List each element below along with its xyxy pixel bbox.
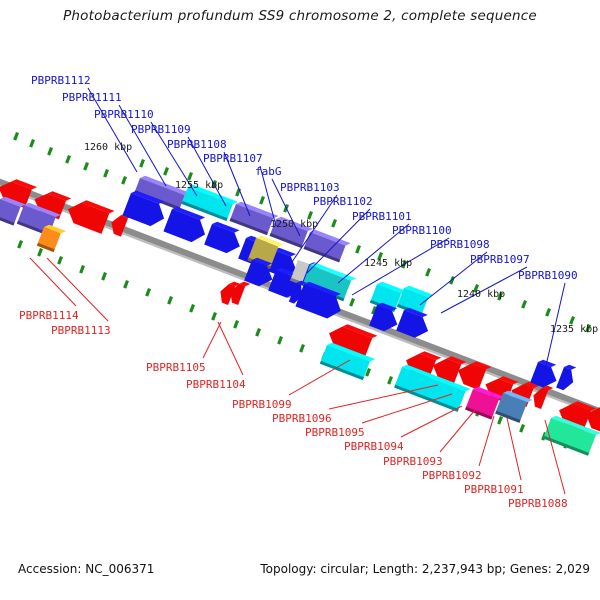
minor-feature-tick <box>497 416 503 425</box>
minor-feature-tick <box>355 245 361 254</box>
genome-map-viewer: Photobacterium profundum SS9 chromosome … <box>0 0 600 600</box>
minor-feature-tick <box>277 336 283 345</box>
minor-feature-tick <box>349 298 355 307</box>
gene-feature[interactable] <box>204 220 245 256</box>
axis-tick-label: 1240 kbp <box>457 290 505 300</box>
gene-label-pbprb1103[interactable]: PBPRB1103 <box>280 182 340 193</box>
minor-feature-tick <box>47 147 53 156</box>
gene-label-pbprb1100[interactable]: PBPRB1100 <box>392 225 452 236</box>
axis-tick-label: 1260 kbp <box>84 143 132 153</box>
gene-body <box>163 209 209 246</box>
minor-feature-tick <box>387 376 393 385</box>
sequence-stats-text: Topology: circular; Length: 2,237,943 bp… <box>260 562 590 576</box>
minor-feature-tick <box>233 320 239 329</box>
minor-feature-tick <box>211 312 217 321</box>
minor-feature-tick <box>17 240 23 249</box>
forward-strand-gene-group <box>0 174 579 392</box>
gene-leader-line <box>203 322 221 358</box>
gene-label-pbprb1092[interactable]: PBPRB1092 <box>422 470 482 481</box>
minor-feature-tick <box>425 268 431 277</box>
gene-label-pbprb1101[interactable]: PBPRB1101 <box>352 211 412 222</box>
gene-label-pbprb1104[interactable]: PBPRB1104 <box>186 379 246 390</box>
gene-label-pbprb1114[interactable]: PBPRB1114 <box>19 310 79 321</box>
gene-label-pbprb1107[interactable]: PBPRB1107 <box>203 153 263 164</box>
minor-feature-tick <box>259 196 265 205</box>
minor-feature-tick <box>101 272 107 281</box>
minor-feature-tick <box>13 132 19 141</box>
minor-feature-tick <box>145 288 151 297</box>
gene-label-pbprb1110[interactable]: PBPRB1110 <box>94 109 154 120</box>
axis-tick-label: 1235 kbp <box>550 325 598 335</box>
gene-label-pbprb1112[interactable]: PBPRB1112 <box>31 75 91 86</box>
minor-feature-tick <box>65 155 71 164</box>
gene-label-fabg[interactable]: fabG <box>255 166 282 177</box>
gene-leader-line <box>289 360 350 395</box>
minor-feature-tick <box>139 159 145 168</box>
gene-label-pbprb1113[interactable]: PBPRB1113 <box>51 325 111 336</box>
gene-leader-line <box>218 322 243 375</box>
minor-feature-tick <box>519 424 525 433</box>
gene-label-pbprb1099[interactable]: PBPRB1099 <box>232 399 292 410</box>
gene-label-pbprb1088[interactable]: PBPRB1088 <box>508 498 568 509</box>
gene-body <box>556 367 577 393</box>
gene-label-pbprb1094[interactable]: PBPRB1094 <box>344 441 404 452</box>
gene-label-pbprb1091[interactable]: PBPRB1091 <box>464 484 524 495</box>
gene-feature[interactable] <box>64 195 114 235</box>
gene-label-pbprb1093[interactable]: PBPRB1093 <box>383 456 443 467</box>
gene-label-pbprb1096[interactable]: PBPRB1096 <box>272 413 332 424</box>
gene-leader-line <box>30 258 76 306</box>
gene-leader-line <box>479 416 494 466</box>
gene-label-pbprb1097[interactable]: PBPRB1097 <box>470 254 530 265</box>
axis-tick-label: 1255 kbp <box>175 181 223 191</box>
minor-feature-tick <box>331 219 337 228</box>
minor-feature-tick <box>521 300 527 309</box>
genome-map-canvas <box>0 0 600 600</box>
gene-label-pbprb1098[interactable]: PBPRB1098 <box>430 239 490 250</box>
gene-label-pbprb1111[interactable]: PBPRB1111 <box>62 92 122 103</box>
minor-feature-tick <box>37 248 43 257</box>
minor-feature-tick <box>103 169 109 178</box>
minor-feature-tick <box>299 344 305 353</box>
gene-label-pbprb1108[interactable]: PBPRB1108 <box>167 139 227 150</box>
minor-feature-tick <box>255 328 261 337</box>
gene-leader-line <box>507 418 521 480</box>
gene-leader-line <box>401 406 462 437</box>
minor-feature-tick <box>121 176 127 185</box>
minor-feature-tick <box>57 256 63 265</box>
minor-feature-tick <box>163 167 169 176</box>
minor-feature-tick <box>123 280 129 289</box>
gene-label-pbprb1090[interactable]: PBPRB1090 <box>518 270 578 281</box>
gene-body <box>204 224 244 257</box>
minor-feature-tick <box>167 296 173 305</box>
gene-leader-line <box>440 410 475 452</box>
minor-feature-tick <box>29 139 35 148</box>
minor-feature-tick <box>449 276 455 285</box>
gene-label-pbprb1095[interactable]: PBPRB1095 <box>305 427 365 438</box>
gene-label-pbprb1109[interactable]: PBPRB1109 <box>131 124 191 135</box>
minor-feature-tick <box>79 265 85 274</box>
axis-tick-label: 1245 kbp <box>364 259 412 269</box>
minor-feature-tick <box>189 304 195 313</box>
axis-tick-label: 1250 kbp <box>270 220 318 230</box>
gene-label-pbprb1105[interactable]: PBPRB1105 <box>146 362 206 373</box>
minor-feature-tick <box>83 162 89 171</box>
gene-label-pbprb1102[interactable]: PBPRB1102 <box>313 196 373 207</box>
minor-feature-tick <box>545 308 551 317</box>
accession-text: Accession: NC_006371 <box>18 562 154 576</box>
gene-feature[interactable] <box>556 363 578 392</box>
